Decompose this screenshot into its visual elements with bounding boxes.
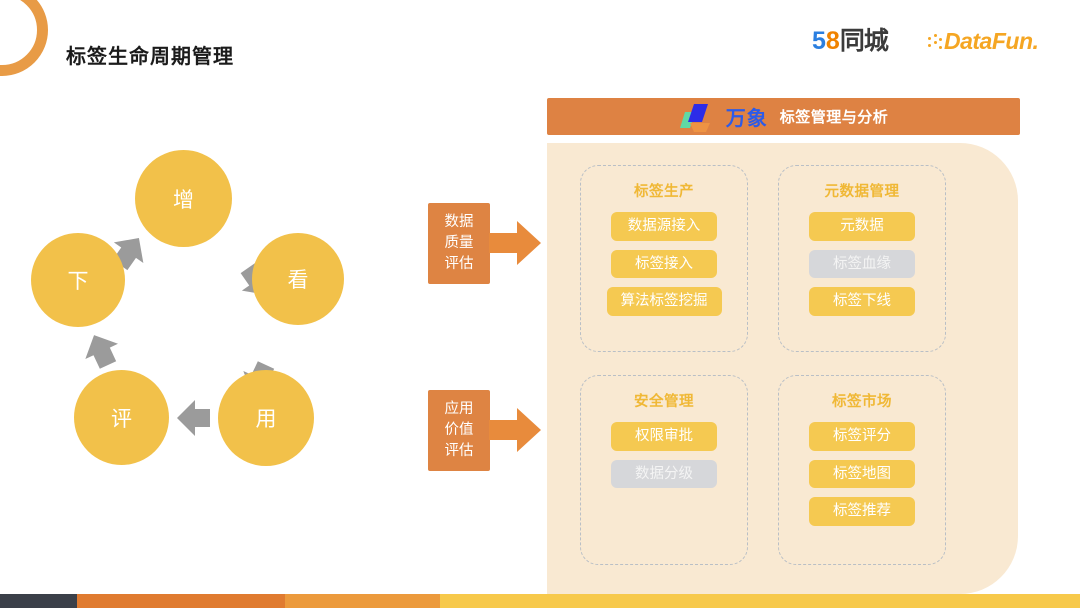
chip-biaoqian-ditu[interactable]: 标签地图 [809, 460, 915, 489]
eval-arrow-data-quality-icon [489, 221, 541, 265]
chip-biaoqian-xueyuan[interactable]: 标签血缘 [809, 250, 915, 279]
logo-58-digit5: 5 [812, 27, 826, 55]
group-security-management: 安全管理 权限审批 数据分级 [580, 375, 748, 565]
panel-brand: 万象 [726, 102, 768, 131]
eval-line: 价值 [428, 420, 490, 441]
chip-quanxian-shenpi[interactable]: 权限审批 [611, 422, 717, 451]
eval-block-data-quality: 数据 质量 评估 [428, 203, 490, 284]
logo-58tongcheng: 58同城 [812, 29, 888, 54]
cycle-node-yong[interactable]: 用 [218, 370, 314, 466]
group-title: 标签生产 [581, 180, 747, 201]
chip-biaoqian-pingfen[interactable]: 标签评分 [809, 422, 915, 451]
group-chip-list: 标签评分 标签地图 标签推荐 [779, 422, 945, 526]
cycle-node-xia[interactable]: 下 [31, 233, 125, 327]
strip-segment [77, 594, 285, 608]
chip-shuju-fenji[interactable]: 数据分级 [611, 460, 717, 489]
logo-datafun-text: DataFun. [944, 28, 1038, 54]
chip-biaoqian-xiaxian[interactable]: 标签下线 [809, 287, 915, 316]
group-title: 标签市场 [779, 390, 945, 411]
eval-block-app-value: 应用 价值 评估 [428, 390, 490, 471]
page-title: 标签生命周期管理 [66, 40, 234, 69]
strip-segment [440, 594, 1080, 608]
arrow-yong-to-ping [177, 400, 210, 436]
arrow-ping-to-xia [78, 327, 125, 372]
eval-line: 数据 [428, 212, 490, 233]
strip-segment [0, 594, 77, 608]
cycle-node-kan[interactable]: 看 [252, 233, 344, 325]
chip-yuanshuju[interactable]: 元数据 [809, 212, 915, 241]
group-chip-list: 权限审批 数据分级 [581, 422, 747, 488]
decorative-arc [0, 0, 48, 76]
datafun-dots-icon [928, 34, 944, 52]
panel-header: 万象 标签管理与分析 [547, 98, 1020, 135]
eval-line: 评估 [428, 441, 490, 462]
logo-58-digit8: 8 [826, 27, 840, 55]
group-metadata-management: 元数据管理 元数据 标签血缘 标签下线 [778, 165, 946, 352]
bottom-color-strip [0, 594, 1080, 608]
group-title: 元数据管理 [779, 180, 945, 201]
group-chip-list: 数据源接入 标签接入 算法标签挖掘 [581, 212, 747, 316]
wanxiang-logo-icon [679, 102, 717, 132]
logo-datafun: DataFun. [928, 30, 1038, 53]
panel-title: 标签管理与分析 [780, 106, 889, 127]
eval-line: 评估 [428, 254, 490, 275]
chip-biaoqian-jieru[interactable]: 标签接入 [611, 250, 717, 279]
group-label-marketplace: 标签市场 标签评分 标签地图 标签推荐 [778, 375, 946, 565]
chip-shujuyuan-jieru[interactable]: 数据源接入 [611, 212, 717, 241]
cycle-node-ping[interactable]: 评 [74, 370, 169, 465]
logo-58-text: 同城 [840, 27, 888, 55]
chip-biaoqian-tuijian[interactable]: 标签推荐 [809, 497, 915, 526]
chip-suanfa-biaoqian-wajue[interactable]: 算法标签挖掘 [607, 287, 722, 316]
group-label-production: 标签生产 数据源接入 标签接入 算法标签挖掘 [580, 165, 748, 352]
group-chip-list: 元数据 标签血缘 标签下线 [779, 212, 945, 316]
group-title: 安全管理 [581, 390, 747, 411]
eval-arrow-app-value-icon [489, 408, 541, 452]
lifecycle-diagram: 增 看 用 评 下 [20, 140, 360, 480]
eval-line: 应用 [428, 399, 490, 420]
cycle-node-zeng[interactable]: 增 [135, 150, 232, 247]
strip-segment [285, 594, 440, 608]
eval-line: 质量 [428, 233, 490, 254]
